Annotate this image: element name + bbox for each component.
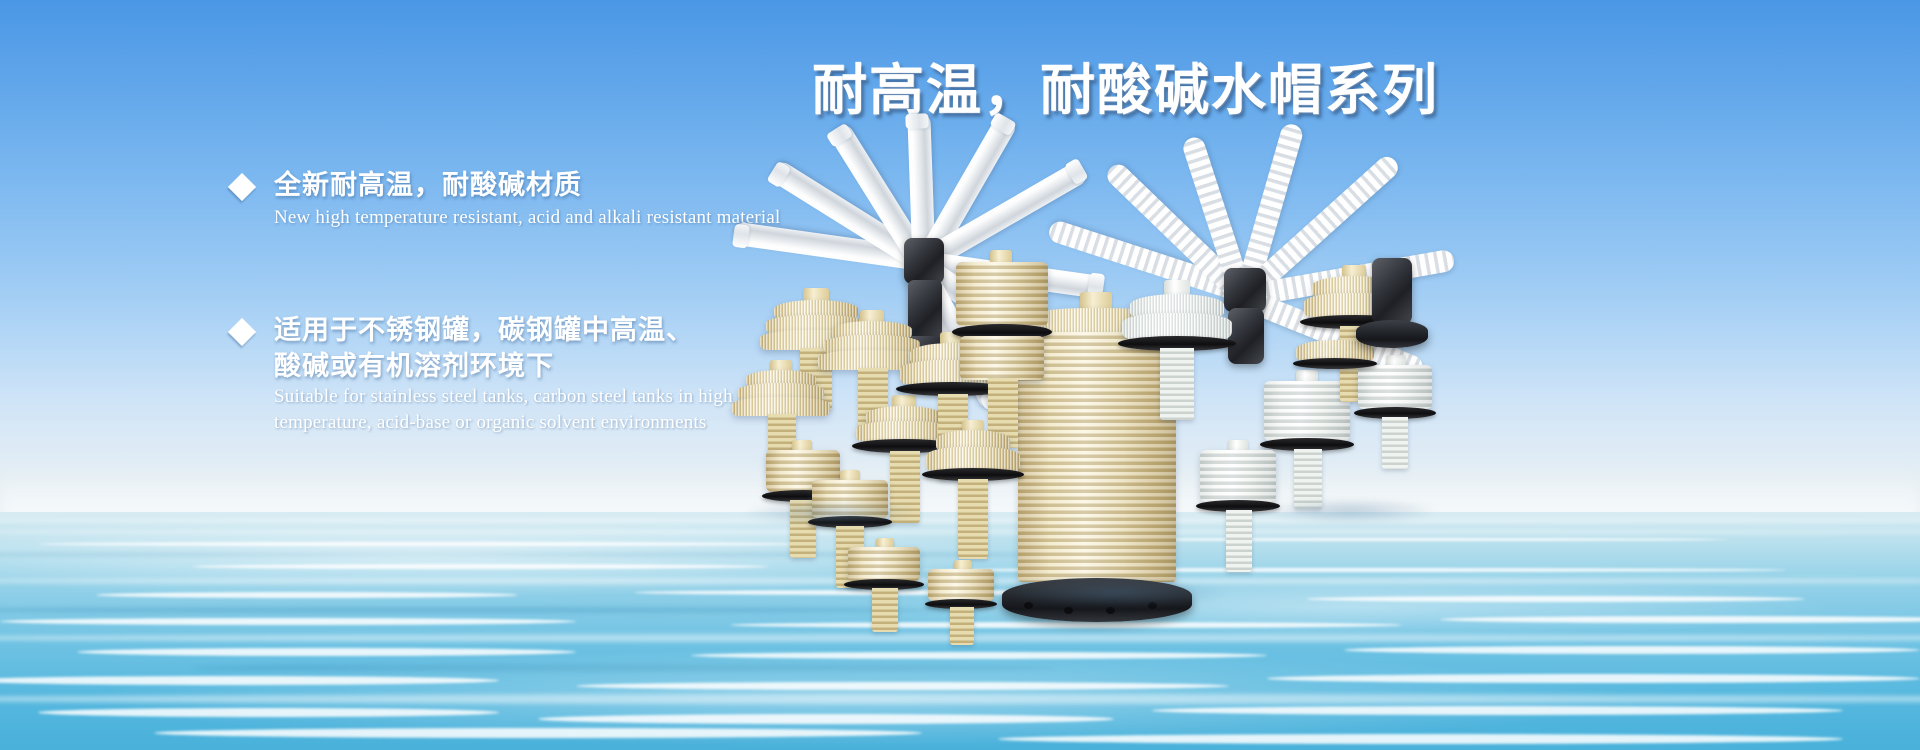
banner-title: 耐高温，耐酸碱水帽系列 bbox=[812, 62, 1412, 120]
feature-1-cn-line-1: 全新耐高温，耐酸碱材质 bbox=[274, 168, 582, 204]
feature-2-cn-line-1: 适用于不锈钢罐，碳钢罐中高温、 bbox=[274, 313, 694, 349]
feature-block-1: 全新耐高温，耐酸碱材质 New high temperature resista… bbox=[232, 168, 781, 230]
diamond-bullet-icon bbox=[228, 318, 256, 346]
promotional-banner: 耐高温，耐酸碱水帽系列 全新耐高温，耐酸碱材质 New high tempera… bbox=[0, 0, 1920, 750]
product-photo-cluster bbox=[700, 140, 1920, 680]
feature-block-2: 适用于不锈钢罐，碳钢罐中高温、 酸碱或有机溶剂环境下 Suitable for … bbox=[232, 313, 733, 435]
diamond-bullet-icon bbox=[228, 173, 256, 201]
feature-2-cn-line-2: 酸碱或有机溶剂环境下 bbox=[274, 349, 694, 385]
feature-2-en-line-1: Suitable for stainless steel tanks, carb… bbox=[274, 385, 733, 409]
feature-2-en-line-2: temperature, acid-base or organic solven… bbox=[274, 411, 733, 435]
